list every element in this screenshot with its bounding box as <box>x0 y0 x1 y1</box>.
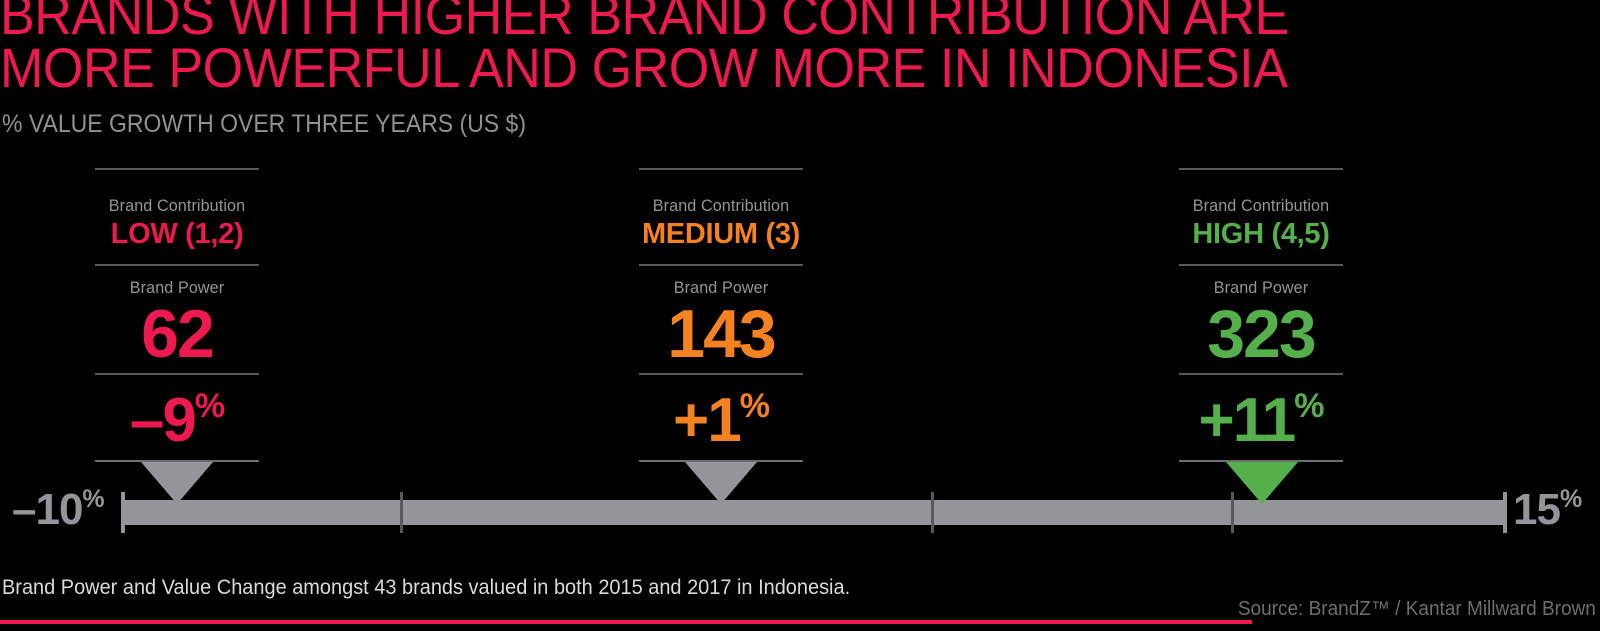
axis-min-percent-sign: % <box>82 485 103 513</box>
axis-max-number: 15 <box>1513 485 1560 534</box>
footnote-text: Brand Power and Value Change amongst 43 … <box>2 576 850 600</box>
marker-medium-triangle-icon <box>685 462 757 504</box>
marker-low-triangle-icon <box>141 462 213 504</box>
axis-tick-minus5 <box>400 492 403 533</box>
axis-end-cap <box>1503 492 1507 533</box>
marker-high-triangle-icon <box>1226 462 1298 504</box>
axis-min-label: –10% <box>12 488 104 532</box>
axis-max-label: 15% <box>1513 488 1581 532</box>
axis-max-percent-sign: % <box>1560 485 1581 513</box>
footer-accent-rule <box>0 620 1252 624</box>
axis-start-cap <box>121 492 125 533</box>
axis-container: –10% 15% <box>0 0 1600 631</box>
axis-min-number: –10 <box>12 485 82 534</box>
source-attribution: Source: BrandZ™ / Kantar Millward Brown <box>1238 598 1596 621</box>
infographic-root: { "header": { "title_line_1": "BRANDS WI… <box>0 0 1600 631</box>
axis-tick-plus5 <box>931 492 934 533</box>
